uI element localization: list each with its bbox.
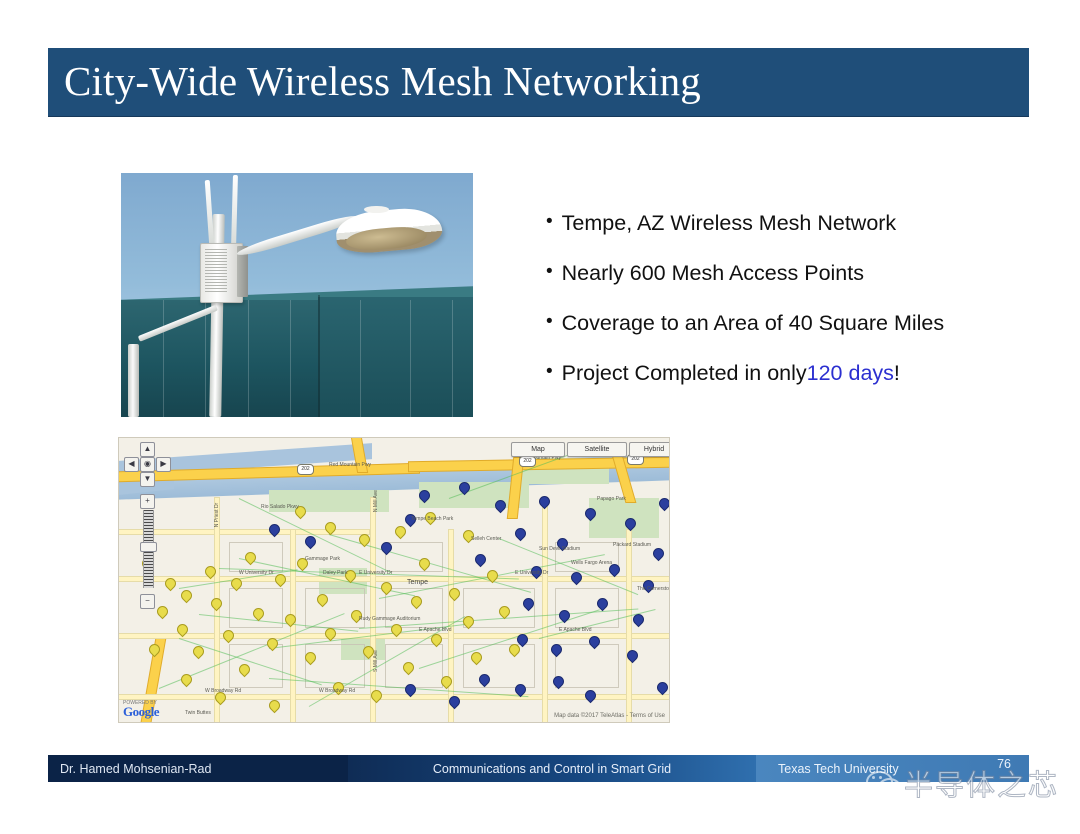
mesh-node-marker[interactable] [193, 646, 202, 659]
highway-shield-icon: 202 [297, 464, 314, 475]
map-label: Selleh Center [471, 536, 501, 542]
bullet-list: • Tempe, AZ Wireless Mesh Network • Near… [546, 210, 1016, 410]
pan-center-button[interactable]: ◉ [140, 457, 155, 472]
list-item: • Project Completed in only 120 days ! [546, 360, 1016, 387]
mesh-node-marker[interactable] [449, 588, 458, 601]
window-pane [452, 300, 453, 417]
zoom-slider-handle[interactable] [140, 542, 157, 552]
pan-left-button[interactable]: ◀ [124, 457, 139, 472]
map-type-hybrid-button[interactable]: Hybrid [629, 442, 670, 457]
bullet-text-prefix: Project Completed in only [562, 360, 807, 387]
footer-course-text: Communications and Control in Smart Grid [433, 762, 671, 776]
mesh-node-marker[interactable] [499, 606, 508, 619]
map-park [589, 498, 659, 538]
footer-author-text: Dr. Hamed Mohsenian-Rad [48, 762, 211, 776]
mesh-node-marker[interactable] [363, 646, 372, 659]
mesh-node-marker[interactable] [267, 638, 276, 651]
map-label: W Broadway Rd [205, 688, 241, 694]
lamp-cap [364, 206, 389, 213]
mesh-node-marker[interactable] [495, 500, 504, 513]
zoom-in-button[interactable]: + [140, 494, 155, 509]
mesh-node-marker[interactable] [181, 674, 190, 687]
map-label: Rudy Gammage Auditorium [359, 616, 420, 622]
map-street-university [119, 577, 669, 581]
highway-shield-icon: 202 [519, 456, 536, 467]
map-label-city: Tempe [407, 579, 428, 586]
google-wordmark: Google [123, 706, 159, 718]
mesh-node-marker[interactable] [223, 630, 232, 643]
secondary-pole [128, 344, 139, 417]
mesh-node-marker[interactable] [305, 536, 314, 549]
map-label: The Cornerstone [637, 586, 670, 592]
mesh-node-marker[interactable] [553, 676, 562, 689]
map-label: Red Mountain Pwy [329, 462, 371, 468]
bullet-text-suffix: ! [894, 360, 900, 387]
mesh-node-marker[interactable] [253, 608, 262, 621]
map-label: N Priest Dr [214, 503, 220, 527]
pan-up-button[interactable]: ▲ [140, 442, 155, 457]
mesh-node-marker[interactable] [471, 652, 480, 665]
map-label: Daley Park [323, 570, 347, 576]
mesh-node-marker[interactable] [419, 558, 428, 571]
map-label: W University Dr [239, 570, 274, 576]
map-type-map-button[interactable]: Map [511, 442, 565, 457]
mesh-node-marker[interactable] [441, 676, 450, 689]
map-label: Packard Stadium [613, 542, 651, 548]
mesh-node-marker[interactable] [403, 662, 412, 675]
tempe-mesh-coverage-map[interactable]: Red Mountain Pwy Red Mountain Pwy Rio Sa… [118, 437, 670, 723]
mesh-node-marker[interactable] [585, 508, 594, 521]
map-label: Tempe Beach Park [411, 516, 453, 522]
window-pane [290, 300, 291, 417]
map-label: E Apache Blvd [559, 627, 592, 633]
footer-course: Communications and Control in Smart Grid [348, 755, 756, 782]
mesh-node-marker[interactable] [449, 696, 458, 709]
mesh-node-marker[interactable] [523, 598, 532, 611]
mesh-node-marker[interactable] [551, 644, 560, 657]
access-point-vents [205, 249, 226, 293]
bullet-text: Tempe, AZ Wireless Mesh Network [562, 210, 897, 237]
bullet-marker: • [546, 260, 553, 285]
window-pane [163, 300, 164, 417]
page-title: City-Wide Wireless Mesh Networking [64, 57, 701, 105]
mesh-node-marker[interactable] [653, 548, 662, 561]
map-label: Papago Park [597, 496, 626, 502]
mesh-node-marker[interactable] [659, 498, 668, 511]
map-label: N Mill Ave [373, 490, 379, 512]
map-label: Sun Devil Stadium [539, 546, 580, 552]
streetlight-mesh-access-point-photo [121, 173, 473, 417]
map-label: W Broadway Rd [319, 688, 355, 694]
building-facade-right [318, 297, 473, 417]
mesh-node-marker[interactable] [411, 596, 420, 609]
mesh-node-marker[interactable] [597, 598, 606, 611]
pan-down-button[interactable]: ▼ [140, 472, 155, 487]
mesh-node-marker[interactable] [359, 534, 368, 547]
map-type-satellite-button[interactable]: Satellite [567, 442, 627, 457]
mesh-node-marker[interactable] [371, 690, 380, 703]
bullet-marker: • [546, 210, 553, 235]
mesh-node-marker[interactable] [559, 610, 568, 623]
mesh-node-marker[interactable] [181, 590, 190, 603]
mesh-node-marker[interactable] [475, 554, 484, 567]
list-item: • Nearly 600 Mesh Access Points [546, 260, 1016, 287]
bullet-text: Nearly 600 Mesh Access Points [562, 260, 864, 287]
map-label: Gammage Park [305, 556, 340, 562]
map-label: Twin Buttes [185, 710, 211, 716]
mesh-node-marker[interactable] [625, 518, 634, 531]
map-street-mcclintock [543, 498, 547, 722]
window-pane [205, 300, 206, 417]
mesh-node-marker[interactable] [317, 594, 326, 607]
title-banner: City-Wide Wireless Mesh Networking [48, 48, 1029, 116]
window-pane [410, 300, 411, 417]
mesh-node-marker[interactable] [231, 578, 240, 591]
window-pane [360, 300, 361, 417]
mesh-node-marker[interactable] [515, 684, 524, 697]
mesh-node-marker[interactable] [627, 650, 636, 663]
mesh-node-marker[interactable] [305, 652, 314, 665]
mesh-node-marker[interactable] [325, 628, 334, 641]
bullet-text: Coverage to an Area of 40 Square Miles [562, 310, 944, 337]
mesh-node-marker[interactable] [539, 496, 548, 509]
map-block [385, 542, 443, 572]
mesh-node-marker[interactable] [431, 634, 440, 647]
mesh-node-marker[interactable] [479, 674, 488, 687]
mesh-node-marker[interactable] [517, 634, 526, 647]
footer-author: Dr. Hamed Mohsenian-Rad [48, 755, 348, 782]
bullet-text-highlight: 120 days [807, 360, 894, 387]
mesh-node-marker[interactable] [149, 644, 158, 657]
mesh-node-marker[interactable] [395, 526, 404, 539]
mesh-node-marker[interactable] [285, 614, 294, 627]
window-pane [248, 300, 249, 417]
mesh-node-marker[interactable] [157, 606, 166, 619]
mesh-node-marker[interactable] [381, 582, 390, 595]
mesh-node-marker[interactable] [633, 614, 642, 627]
map-label: E Apache Blvd [419, 627, 452, 633]
bullet-marker: • [546, 360, 553, 385]
map-label: Wells Fargo Arena [571, 560, 612, 566]
mesh-node-marker[interactable] [405, 684, 414, 697]
slide-footer: Dr. Hamed Mohsenian-Rad Communications a… [48, 755, 1029, 782]
list-item: • Coverage to an Area of 40 Square Miles [546, 310, 1016, 337]
map-label: S Mill Ave [373, 650, 379, 672]
building-edge [318, 295, 320, 417]
mesh-node-marker[interactable] [463, 616, 472, 629]
map-label: Rio Salado Pkwy [261, 504, 299, 510]
page-number: 76 [975, 757, 1011, 771]
mesh-node-marker[interactable] [589, 636, 598, 649]
map-label: E University Dr [359, 570, 392, 576]
footer-institution: Texas Tech University 76 [756, 755, 1029, 782]
mesh-node-marker[interactable] [177, 624, 186, 637]
mesh-node-marker[interactable] [487, 570, 496, 583]
mesh-node-marker[interactable] [269, 524, 278, 537]
map-attribution: Map data ©2017 TeleAtlas - Terms of Use [554, 713, 665, 719]
google-logo: POWERED BY Google [123, 700, 159, 718]
map-block [555, 644, 619, 688]
bullet-marker: • [546, 310, 553, 335]
mesh-node-marker[interactable] [391, 624, 400, 637]
mesh-node-marker[interactable] [419, 490, 428, 503]
mesh-node-marker[interactable] [275, 574, 284, 587]
map-label: E University Dr [515, 570, 548, 576]
mesh-node-marker[interactable] [571, 572, 580, 585]
mesh-node-marker[interactable] [585, 690, 594, 703]
mesh-node-marker[interactable] [381, 542, 390, 555]
mesh-node-marker[interactable] [211, 598, 220, 611]
mesh-node-marker[interactable] [205, 566, 214, 579]
mesh-node-marker[interactable] [245, 552, 254, 565]
list-item: • Tempe, AZ Wireless Mesh Network [546, 210, 1016, 237]
zoom-out-button[interactable]: − [140, 594, 155, 609]
mesh-node-marker[interactable] [239, 664, 248, 677]
mesh-node-marker[interactable] [325, 522, 334, 535]
mesh-node-marker[interactable] [269, 700, 278, 713]
map-street-price [627, 530, 631, 722]
mesh-node-marker[interactable] [515, 528, 524, 541]
mesh-node-marker[interactable] [165, 578, 174, 591]
footer-institution-text: Texas Tech University [756, 762, 899, 776]
map-street-mill [371, 498, 375, 722]
mesh-node-marker[interactable] [459, 482, 468, 495]
mesh-node-marker[interactable] [657, 682, 666, 695]
pan-right-button[interactable]: ▶ [156, 457, 171, 472]
